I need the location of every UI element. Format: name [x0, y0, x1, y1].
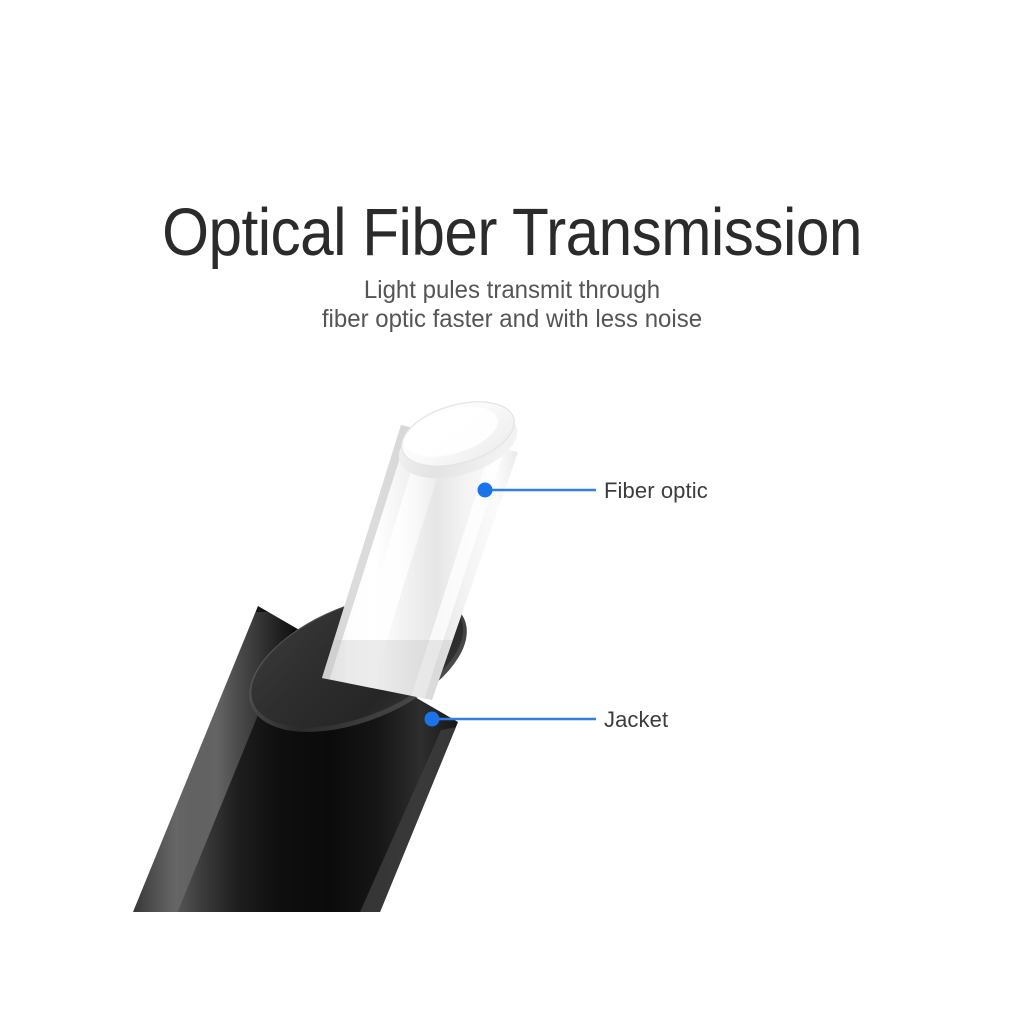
callout-label-jacket: Jacket	[604, 707, 668, 733]
page-subtitle: Light pules transmit through fiber optic…	[20, 276, 1003, 334]
subtitle-line-2: fiber optic faster and with less noise	[20, 305, 1003, 334]
subtitle-line-1: Light pules transmit through	[20, 276, 1003, 305]
callout-fiber-optic[interactable]	[478, 483, 597, 498]
fiber-body	[310, 415, 528, 712]
fiber-top-face-inner	[399, 397, 503, 466]
cable-jacket	[120, 566, 486, 940]
page-title: Optical Fiber Transmission	[51, 196, 973, 270]
heading-block: Optical Fiber Transmission Light pules t…	[0, 196, 1024, 334]
jacket-top-face-group	[230, 566, 487, 760]
callout-label-fiber-optic: Fiber optic	[604, 478, 708, 504]
fiber-optic-core	[310, 390, 528, 715]
callout-dot-fiber-optic[interactable]	[478, 483, 493, 498]
jacket-body	[120, 600, 470, 940]
fiber-top-face	[394, 390, 521, 478]
fiber-chamfer-group	[391, 397, 525, 490]
jacket-highlight-streak	[132, 612, 300, 916]
jacket-top-face	[233, 568, 482, 754]
callout-jacket[interactable]	[425, 712, 597, 727]
fiber-top-face-group	[394, 390, 521, 478]
fiber-secondary-highlight	[410, 445, 506, 700]
callout-dot-jacket[interactable]	[425, 712, 440, 727]
fiber-entry-shadow	[310, 640, 460, 715]
illustration-page: Optical Fiber Transmission Light pules t…	[0, 0, 1024, 1024]
jacket-rim-light	[360, 726, 462, 912]
fiber-highlight-streak	[340, 430, 452, 700]
fiber-left-shadow	[312, 420, 412, 690]
fiber-cable-illustration	[0, 0, 1024, 1024]
jacket-top-rim	[230, 566, 487, 760]
fiber-chamfer	[391, 397, 525, 490]
